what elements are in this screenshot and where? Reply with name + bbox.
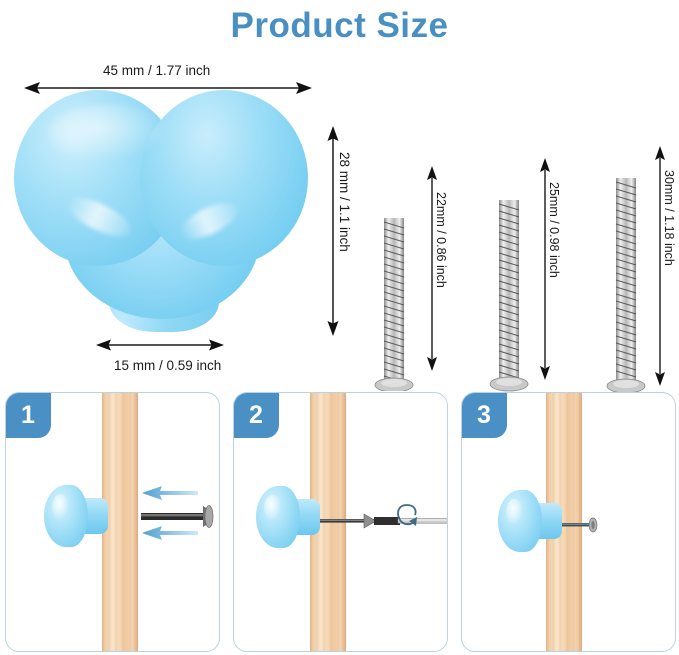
- step-badge-2: 2: [233, 392, 279, 438]
- knob-highlight: [48, 104, 168, 162]
- direction-arrow-top-1: [142, 485, 198, 501]
- knob-profile-highlight-3: [506, 499, 523, 525]
- knob-width-label: 45 mm / 1.77 inch: [103, 63, 210, 78]
- screw-25mm-label: 25mm / 0.98 inch: [547, 182, 561, 278]
- screw-22mm-label: 22mm / 0.86 inch: [434, 192, 448, 288]
- step-panel-1: 1: [5, 392, 220, 652]
- screw-22mm-illustration: [374, 176, 414, 391]
- installation-steps: 1 2: [0, 386, 679, 655]
- step-panel-3: 3: [461, 392, 676, 652]
- knob-base-label: 15 mm / 0.59 inch: [114, 358, 221, 373]
- step-panel-2: 2: [233, 392, 448, 652]
- rotation-arrow-2: [394, 501, 420, 533]
- knob-profile-highlight-1: [52, 494, 69, 520]
- product-size-diagram: 45 mm / 1.77 inch 15 mm / 0.59 inch 28 m…: [0, 52, 679, 382]
- step-badge-3: 3: [461, 392, 507, 438]
- screw-25mm-illustration: [489, 168, 529, 396]
- knob-profile-highlight-2: [264, 495, 281, 521]
- direction-arrow-bottom-1: [142, 525, 198, 541]
- screw-30mm-illustration: [606, 156, 646, 400]
- knob-lobe-right: [140, 90, 308, 266]
- knob-height-label: 28 mm / 1.1 inch: [337, 152, 352, 252]
- screw-30mm-label: 30mm / 1.18 inch: [662, 170, 676, 266]
- page-title: Product Size: [0, 4, 679, 48]
- step-badge-1: 1: [5, 392, 51, 438]
- knob-illustration: [12, 82, 312, 352]
